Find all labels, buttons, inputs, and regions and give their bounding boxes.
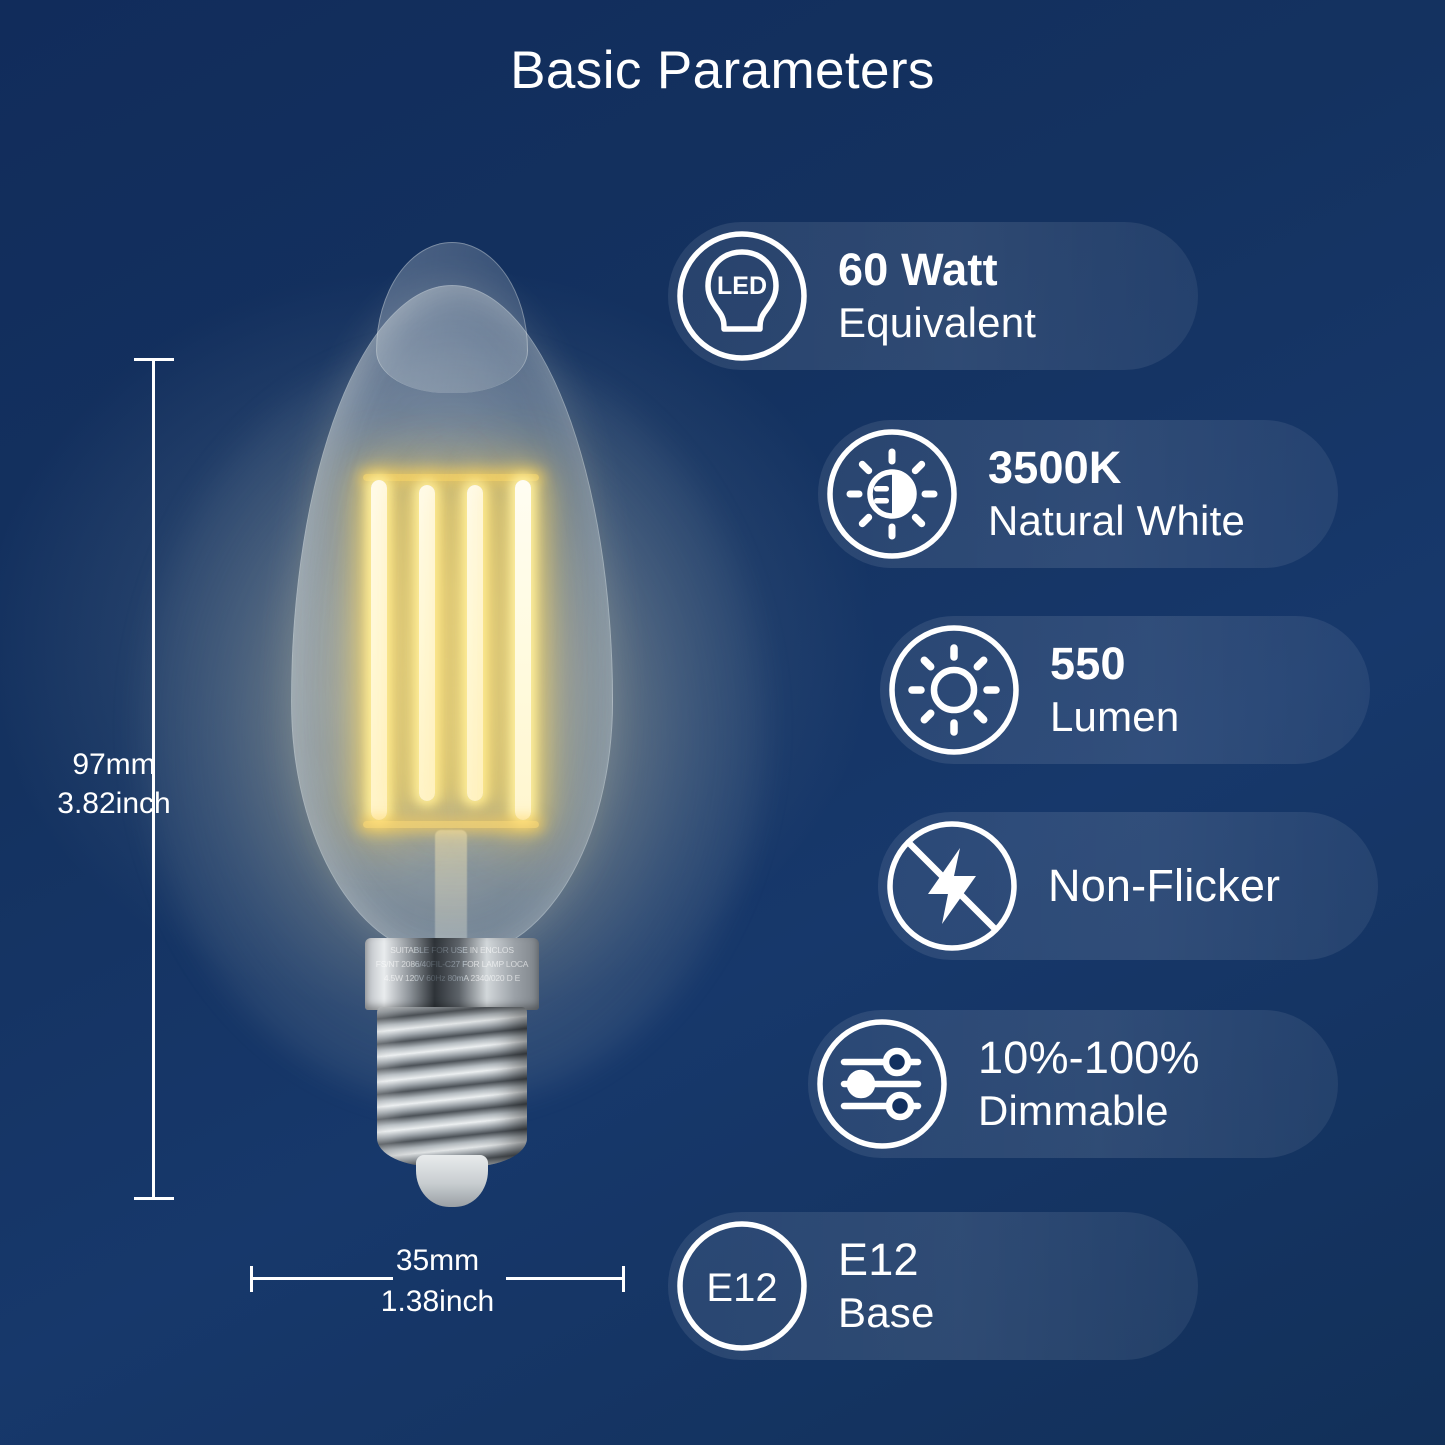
feature-caption: Dimmable — [978, 1085, 1200, 1137]
feature-row-dimmable: 10%-100% Dimmable — [808, 1010, 1200, 1158]
feature-row-wattage: LED 60 Watt Equivalent — [668, 222, 1036, 370]
infographic-canvas: Basic Parameters SUITABLE FOR USE IN ENC… — [0, 0, 1445, 1445]
feature-row-lumen: 550 Lumen — [880, 616, 1179, 764]
feature-row-color-temperature: 3500K Natural White — [818, 420, 1245, 568]
feature-text: E12 Base — [838, 1233, 935, 1339]
brightness-sun-icon — [886, 622, 1022, 758]
feature-text: 60 Watt Equivalent — [838, 243, 1036, 349]
feature-caption: Base — [838, 1287, 935, 1339]
led-bulb-icon: LED — [674, 228, 810, 364]
feature-value: 3500K — [988, 441, 1245, 495]
feature-text: 3500K Natural White — [988, 441, 1245, 547]
feature-value: E12 — [838, 1233, 935, 1287]
led-icon-text: LED — [717, 272, 767, 300]
no-flicker-icon — [884, 818, 1020, 954]
feature-text: 10%-100% Dimmable — [978, 1031, 1200, 1137]
feature-value: 550 — [1050, 637, 1179, 691]
feature-row-non-flicker: Non-Flicker — [878, 812, 1280, 960]
dimmer-sliders-icon — [814, 1016, 950, 1152]
color-temperature-icon — [824, 426, 960, 562]
feature-value: 10%-100% — [978, 1031, 1200, 1085]
feature-value: 60 Watt — [838, 243, 1036, 297]
feature-row-base: E12 E12 Base — [668, 1212, 935, 1360]
feature-list: LED 60 Watt Equivalent — [0, 0, 1445, 1445]
feature-caption: Natural White — [988, 495, 1245, 547]
feature-caption: Lumen — [1050, 691, 1179, 743]
feature-value: Non-Flicker — [1048, 856, 1280, 916]
feature-text: Non-Flicker — [1048, 856, 1280, 916]
feature-caption: Equivalent — [838, 297, 1036, 349]
feature-text: 550 Lumen — [1050, 637, 1179, 743]
e12-icon-text: E12 — [706, 1266, 777, 1310]
e12-base-icon: E12 — [674, 1218, 810, 1354]
